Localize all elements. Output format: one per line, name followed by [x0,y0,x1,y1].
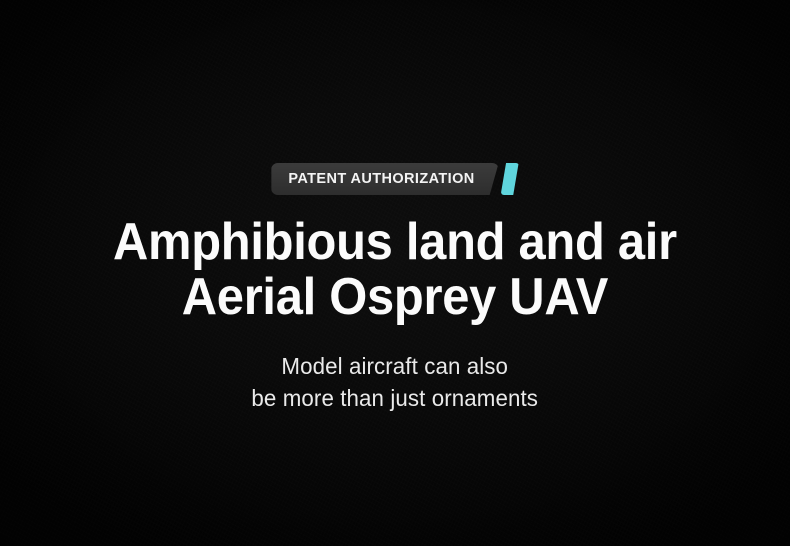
page-title-line-1: Amphibious land and air [113,215,677,270]
badge-accent-shape [501,163,519,195]
badge-plate: PATENT AUTHORIZATION [271,163,498,195]
hero-content: PATENT AUTHORIZATION Amphibious land and… [0,0,790,546]
page-title-line-2: Aerial Osprey UAV [113,270,677,325]
patent-authorization-badge: PATENT AUTHORIZATION [271,163,518,195]
hero-banner: PATENT AUTHORIZATION Amphibious land and… [0,0,790,546]
page-subtitle-line-2: be more than just ornaments [252,383,539,415]
page-subtitle-line-1: Model aircraft can also [252,351,539,383]
badge-label: PATENT AUTHORIZATION [288,172,474,187]
page-subtitle: Model aircraft can also be more than jus… [252,351,539,414]
page-title: Amphibious land and air Aerial Osprey UA… [113,215,677,325]
